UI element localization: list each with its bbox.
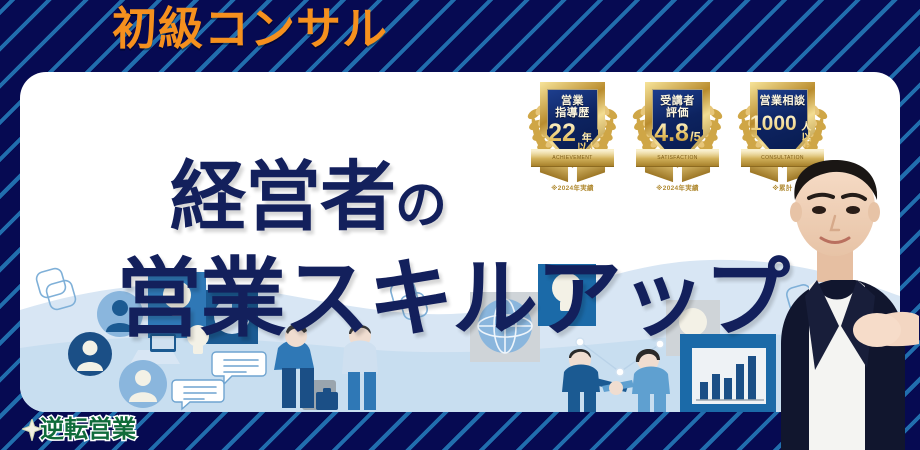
medal-badge: 受講者 評価 4.8 /5 SATISFACTION ※2024年実績 bbox=[630, 80, 725, 192]
medal-art: 営業 指導歴 22 年 以上 AC bbox=[525, 80, 620, 180]
presenter-photo bbox=[755, 130, 920, 450]
medal-label-line2: 指導歴 bbox=[555, 107, 590, 119]
medal-label-line1: 営業相談 bbox=[760, 95, 806, 107]
title-line-2: 営業スキルアップ bbox=[116, 256, 788, 342]
medal-badge: 営業 指導歴 22 年 以上 AC bbox=[525, 80, 620, 192]
title-line-1: 経営者の bbox=[170, 160, 446, 236]
brand-logo-text: 逆転営業 bbox=[40, 418, 136, 442]
medal-value: 22 bbox=[548, 121, 576, 146]
medal-label-line1: 営業 bbox=[561, 95, 584, 107]
medal-value-row: 4.8 /5 bbox=[654, 121, 701, 146]
title-line-1-particle: の bbox=[395, 177, 446, 235]
medal-label: 営業 指導歴 bbox=[555, 88, 590, 120]
kicker-text: 初級コンサル bbox=[112, 6, 388, 51]
brand-logo[interactable]: 逆転営業 bbox=[22, 418, 136, 442]
medal-caption: ※2024年実績 bbox=[525, 182, 620, 192]
medal-art: 受講者 評価 4.8 /5 SATISFACTION bbox=[630, 80, 725, 180]
ribbon-text: ACHIEVEMENT bbox=[531, 150, 614, 165]
banner-root: 経営者の 営業スキルアップ bbox=[0, 0, 920, 450]
medal-label-line1: 受講者 bbox=[660, 95, 695, 107]
medal-caption: ※2024年実績 bbox=[630, 182, 725, 192]
medal-unit-line1: /5 bbox=[690, 130, 701, 143]
medal-value: 4.8 bbox=[654, 121, 689, 146]
spark-icon bbox=[22, 419, 42, 441]
ribbon-text: SATISFACTION bbox=[636, 150, 719, 165]
medal-label-line2: 評価 bbox=[666, 107, 689, 119]
medal-label: 営業相談 bbox=[760, 88, 806, 107]
title-line-1-main: 経営者 bbox=[170, 155, 395, 240]
medal-label: 受講者 評価 bbox=[660, 88, 695, 120]
